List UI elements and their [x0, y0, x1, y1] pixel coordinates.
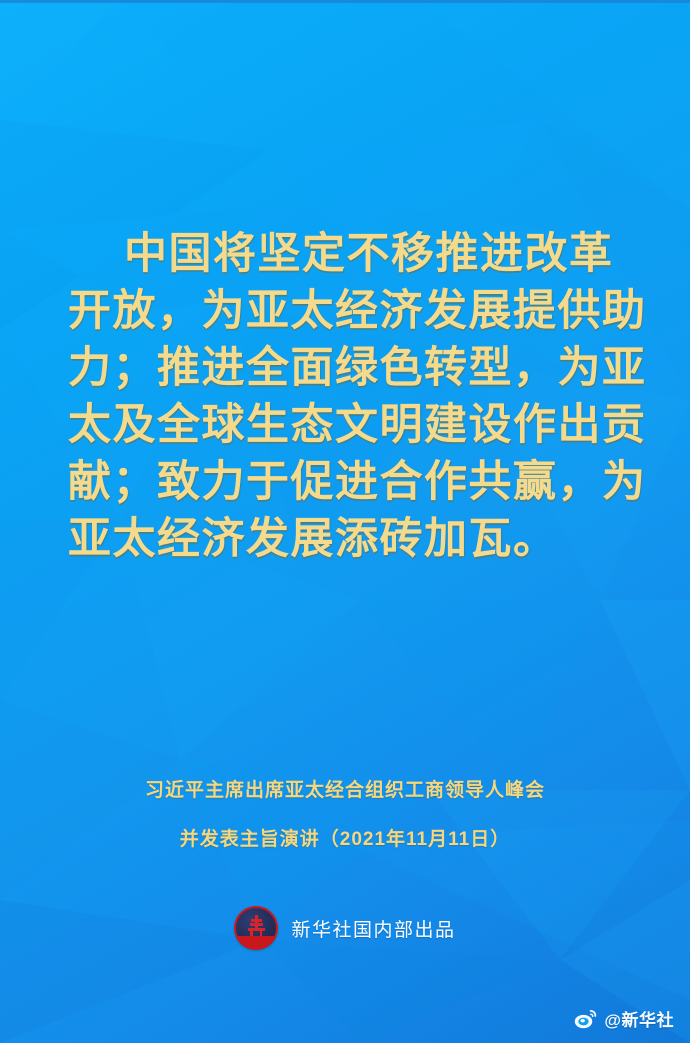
top-edge-rule — [0, 0, 690, 3]
quote-line-5: 献；致力于促进合作共赢，为 — [68, 454, 622, 511]
credit-row: 新华社国内部出品 — [0, 906, 690, 950]
quote-line-2: 开放，为亚太经济发展提供助 — [68, 283, 622, 340]
weibo-watermark: @新华社 — [574, 1006, 674, 1031]
xinhua-emblem-icon — [234, 906, 278, 950]
quote-line-4: 太及全球生态文明建设作出贡 — [68, 397, 622, 454]
quote-line-3: 力；推进全面绿色转型，为亚 — [68, 340, 622, 397]
quote-line-6: 亚太经济发展添砖加瓦。 — [68, 511, 622, 568]
quote-line-1: 中国将坚定不移推进改革 — [68, 226, 622, 283]
credit-text: 新华社国内部出品 — [291, 915, 455, 942]
quote-block: 中国将坚定不移推进改革 开放，为亚太经济发展提供助 力；推进全面绿色转型，为亚 … — [0, 226, 690, 568]
caption-block: 习近平主席出席亚太经合组织工商领导人峰会 并发表主旨演讲（2021年11月11日… — [0, 779, 690, 852]
weibo-handle: @新华社 — [604, 1006, 674, 1031]
caption-line-1: 习近平主席出席亚太经合组织工商领导人峰会 — [0, 779, 690, 803]
poster-canvas: 中国将坚定不移推进改革 开放，为亚太经济发展提供助 力；推进全面绿色转型，为亚 … — [0, 0, 690, 1043]
caption-line-2: 并发表主旨演讲（2021年11月11日） — [0, 828, 690, 852]
weibo-eye-icon — [574, 1009, 598, 1029]
